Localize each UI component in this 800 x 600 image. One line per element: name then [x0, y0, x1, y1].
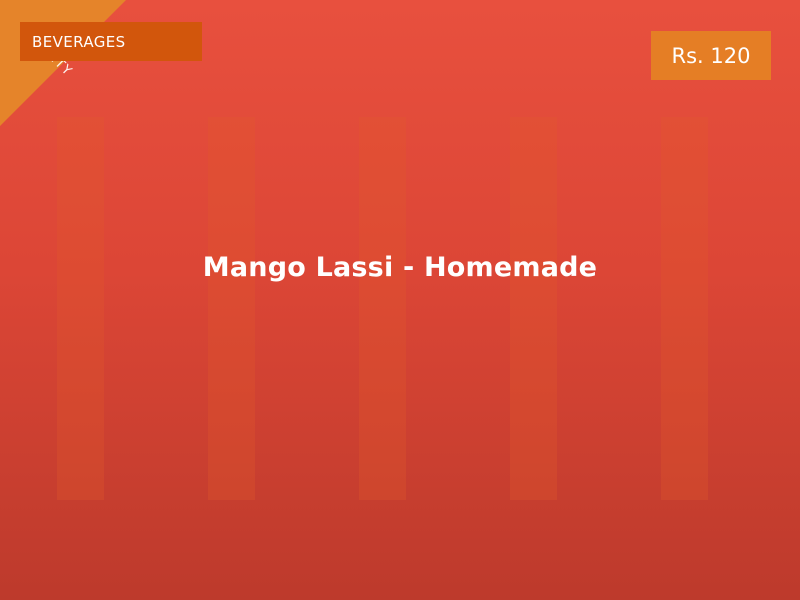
price-badge-label: Rs. 120: [672, 44, 751, 68]
background-stripe-pattern: [0, 117, 800, 500]
price-badge[interactable]: Rs. 120: [651, 31, 771, 80]
category-badge[interactable]: BEVERAGES: [20, 22, 202, 61]
background-stripe: [359, 117, 406, 500]
product-card: QUALITY BEVERAGES Rs. 120 Mango Lassi - …: [0, 0, 800, 600]
background-stripe: [208, 117, 255, 500]
background-stripe: [661, 117, 708, 500]
background-stripe: [510, 117, 557, 500]
category-badge-label: BEVERAGES: [32, 33, 126, 51]
product-title: Mango Lassi - Homemade: [0, 252, 800, 283]
background-stripe: [57, 117, 104, 500]
